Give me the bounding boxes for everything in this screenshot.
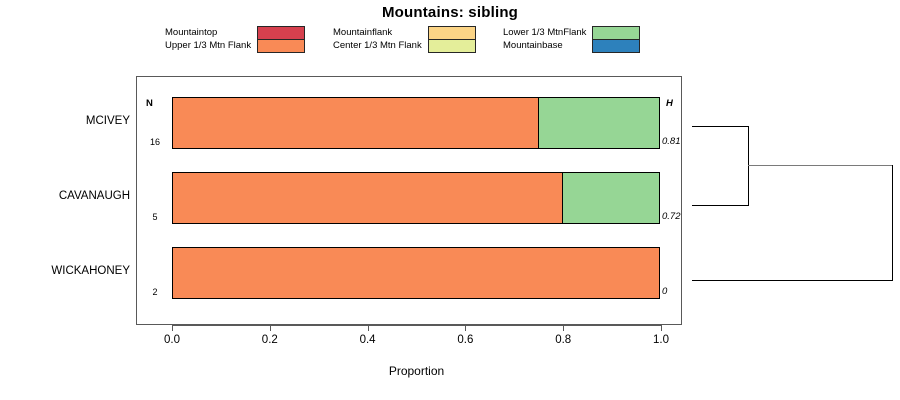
- x-axis-title: Proportion: [172, 364, 661, 378]
- x-tick-mark: [563, 325, 564, 331]
- x-tick-label: 0.8: [543, 334, 583, 346]
- dendrogram-join-2: [892, 165, 893, 281]
- x-tick-mark: [172, 325, 173, 331]
- x-tick-label: 0.6: [445, 334, 485, 346]
- x-tick-mark: [368, 325, 369, 331]
- x-tick-label: 1.0: [641, 334, 681, 346]
- dendrogram-leaf-cavanaugh: [692, 205, 749, 206]
- dendrogram-leaf-wickahoney: [692, 280, 893, 281]
- x-tick-mark: [270, 325, 271, 331]
- x-tick-mark: [465, 325, 466, 331]
- x-tick-mark: [661, 325, 662, 331]
- x-tick-label: 0.2: [250, 334, 290, 346]
- x-tick-label: 0.4: [348, 334, 388, 346]
- dendrogram-leaf-mcivey: [692, 126, 749, 127]
- dendrogram-branch-1: [748, 165, 893, 166]
- chart-root: Mountains: sibling MountaintopUpper 1/3 …: [0, 0, 900, 400]
- x-tick-label: 0.0: [152, 334, 192, 346]
- dendrogram: [690, 76, 900, 325]
